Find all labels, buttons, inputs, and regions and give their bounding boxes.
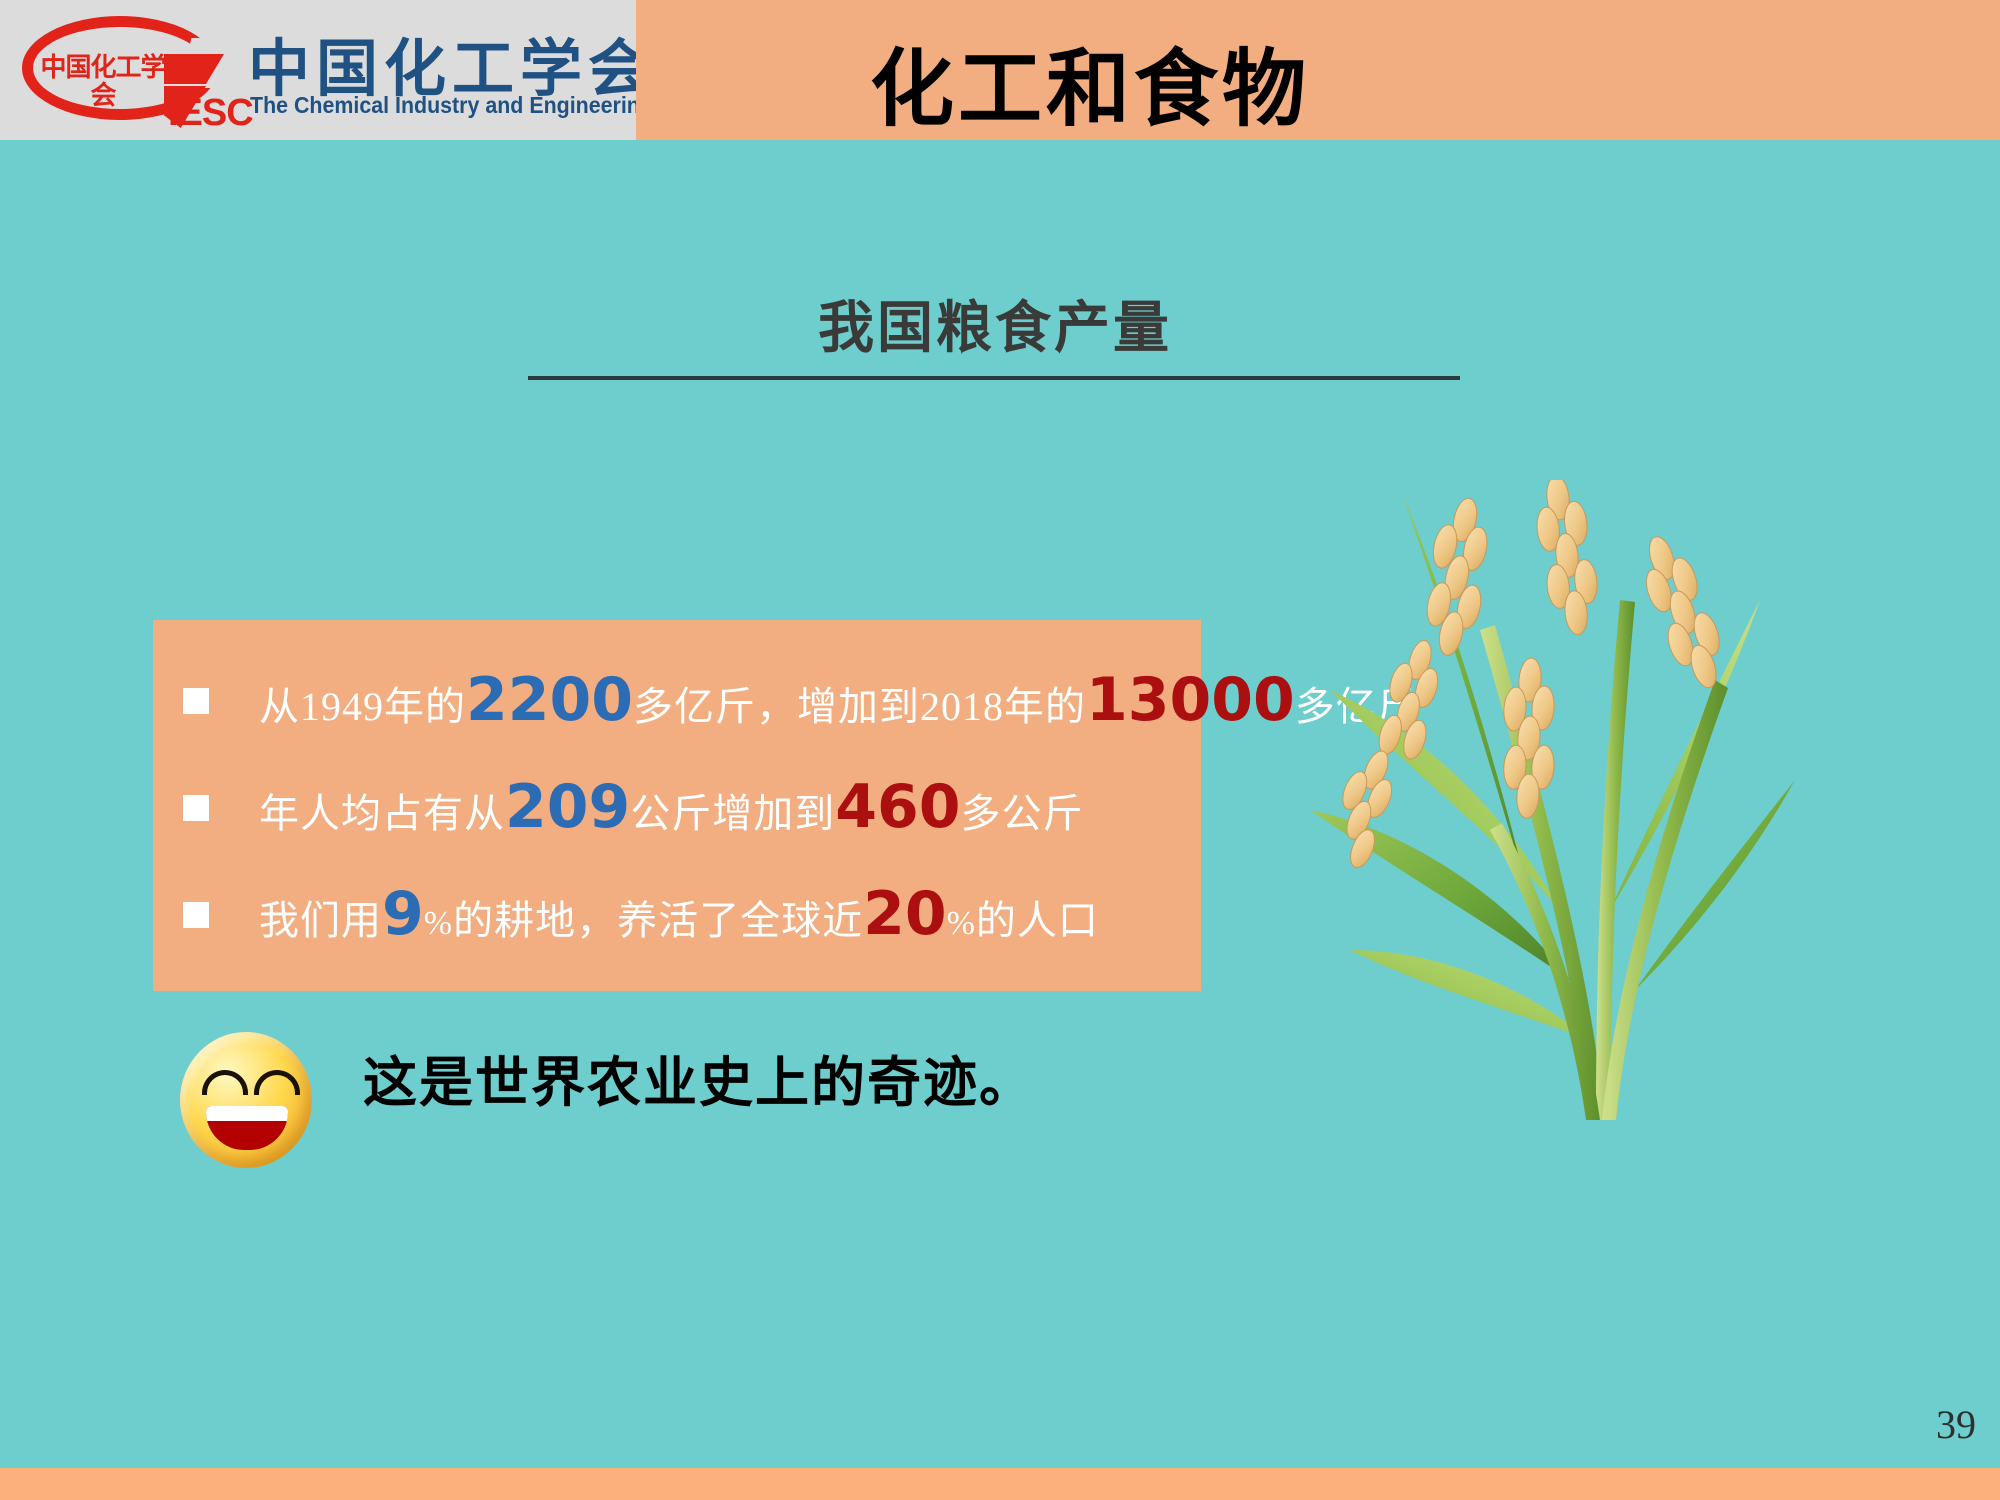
slide: 中国化工学会 IESC 中国化工学会 The Chemical Industry… xyxy=(0,0,2000,1500)
bullet-square-icon xyxy=(183,688,209,714)
facts-panel: 从1949年的2200多亿斤，增加到2018年的13000多亿斤 年人均占有从2… xyxy=(153,620,1201,991)
fact-text: 年人均占有从209公斤增加到460多公斤 xyxy=(259,772,1084,842)
bullet-square-icon xyxy=(183,795,209,821)
header-band: 中国化工学会 IESC 中国化工学会 The Chemical Industry… xyxy=(0,0,2000,140)
smiley-right-eye xyxy=(254,1070,300,1095)
heading-divider xyxy=(528,376,1460,380)
logo-acronym: IESC xyxy=(168,92,253,135)
fact-item: 从1949年的2200多亿斤，增加到2018年的13000多亿斤 xyxy=(183,665,1418,735)
rice-wheat-plant-illustration xyxy=(1290,480,1810,1140)
fact-text: 从1949年的2200多亿斤，增加到2018年的13000多亿斤 xyxy=(259,665,1418,735)
grinning-smiley-face-icon xyxy=(180,1032,312,1168)
section-heading: 我国粮食产量 xyxy=(818,283,1172,364)
bullet-square-icon xyxy=(183,902,209,928)
smiley-mouth xyxy=(206,1106,288,1150)
society-logo: 中国化工学会 IESC 中国化工学会 The Chemical Industry… xyxy=(0,0,636,140)
fact-item: 年人均占有从209公斤增加到460多公斤 xyxy=(183,772,1084,842)
slide-header-title: 化工和食物 xyxy=(870,22,1310,143)
slide-caption: 这是世界农业史上的奇迹。 xyxy=(363,1038,1035,1117)
footer-band xyxy=(0,1468,2000,1500)
fact-text: 我们用9%的耕地，养活了全球近20%的人口 xyxy=(259,879,1099,949)
smiley-left-eye xyxy=(202,1070,248,1095)
fact-item: 我们用9%的耕地，养活了全球近20%的人口 xyxy=(183,879,1099,949)
logo-seal-text: 中国化工学会 xyxy=(32,54,174,110)
logo-english-name: The Chemical Industry and Engineering So… xyxy=(250,92,636,119)
page-number: 39 xyxy=(1936,1401,1976,1448)
